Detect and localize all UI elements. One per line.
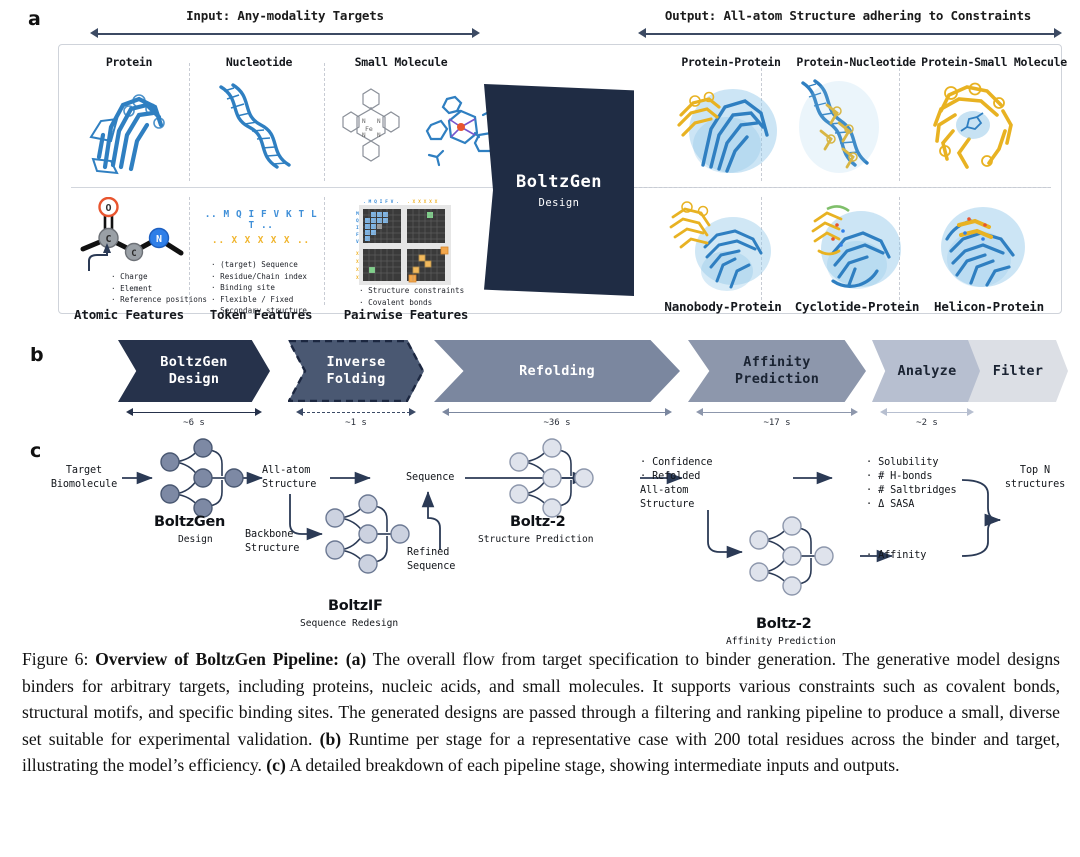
panel-c: c	[0, 432, 1080, 642]
stage-label-inverse-folding: Inverse Folding	[327, 354, 386, 388]
panel-a-letter: a	[28, 8, 41, 30]
svg-text:Q: Q	[356, 218, 359, 224]
input-header-arrow	[90, 28, 480, 39]
caption-pairwise-features: Pairwise Features	[331, 307, 481, 322]
input-title-protein: Protein	[69, 55, 189, 69]
caption-token-features: Token Features	[199, 307, 323, 322]
input-label: Target Biomolecule	[38, 464, 130, 492]
net-1-sub: Design	[178, 534, 213, 545]
panel-b-letter: b	[30, 344, 44, 366]
time-arrow-inverse-folding	[296, 408, 416, 417]
token-sequence-known: .. M Q I F V K T L T ..	[199, 209, 323, 231]
bullet-target-sequence: · (target) Sequence	[211, 259, 307, 271]
caption-c-tag: (c)	[266, 755, 286, 775]
svg-text:F: F	[356, 232, 359, 238]
svg-text:N: N	[377, 132, 381, 139]
caption-atomic-features: Atomic Features	[69, 307, 189, 322]
net-3-name: Boltz-2	[510, 514, 565, 530]
net-3-sub: Structure Prediction	[478, 534, 594, 545]
atomic-features-bullets: · Charge · Element · Reference positions	[111, 271, 207, 306]
allatom-structure-label: All-atom Structure	[262, 464, 342, 492]
time-arrow-analyze	[880, 408, 974, 417]
stage-label-filter: Filter	[993, 363, 1044, 380]
time-arrow-boltzgen-design	[126, 408, 262, 417]
stage-analyze[interactable]: Analyze	[872, 340, 982, 402]
metrics-outputs: · Solubility · # H-bonds · # Saltbridges…	[866, 456, 996, 512]
final-output-label: Top N structures	[995, 464, 1075, 492]
complex-cyclotide-protein-icon	[793, 195, 913, 295]
pairwise-matrix-icon: . M Q I F V . . X X X X X MQ IF V XX XX	[349, 197, 457, 289]
net-2-sub: Sequence Redesign	[300, 618, 398, 629]
caption-helicon-protein: Helicon-Protein	[909, 299, 1069, 314]
svg-text:X: X	[356, 267, 359, 273]
svg-text:. X X X X X: . X X X X X	[407, 199, 438, 205]
time-arrow-affinity-prediction	[696, 408, 858, 417]
caption-b-tag: (b)	[320, 729, 342, 749]
complex-protein-ligand-icon	[915, 73, 1033, 181]
time-arrow-refolding	[442, 408, 672, 417]
svg-text:N: N	[362, 118, 366, 125]
boltzgen-design-box[interactable]: BoltzGen Design	[484, 84, 634, 296]
svg-text:X: X	[356, 251, 359, 257]
complex-helicon-protein-icon	[925, 195, 1043, 295]
stage-filter[interactable]: Filter	[968, 340, 1068, 402]
svg-text:O: O	[105, 203, 111, 214]
input-title-nucleotide: Nucleotide	[199, 55, 319, 69]
svg-text:C: C	[131, 249, 136, 259]
divider-feat-2	[324, 197, 325, 305]
stage-label-affinity-prediction: Affinity Prediction	[735, 354, 819, 388]
time-label-analyze: ~2 s	[880, 418, 974, 428]
svg-text:N: N	[362, 132, 366, 139]
sequence-label: Sequence	[406, 471, 486, 485]
boltzgen-box-subtitle: Design	[539, 197, 580, 209]
stage-affinity-prediction[interactable]: Affinity Prediction	[688, 340, 866, 402]
svg-text:N: N	[377, 118, 381, 125]
bullet-charge: · Charge	[111, 271, 207, 283]
bullet-flexible-fixed: · Flexible / Fixed	[211, 294, 307, 306]
output-header-label: Output: All-atom Structure adhering to C…	[628, 8, 1068, 23]
net-1-name: BoltzGen	[154, 514, 225, 530]
divider-output-mid	[629, 187, 1051, 188]
svg-text:X: X	[356, 275, 359, 281]
panel-b: b BoltzGen Design ~6 s Inverse Folding ~…	[0, 332, 1080, 432]
svg-text:C: C	[105, 234, 111, 245]
panel-a: a Input: Any-modality Targets Output: Al…	[0, 0, 1080, 330]
svg-text:I: I	[356, 225, 359, 231]
output-header-arrow	[638, 28, 1062, 39]
caption-figure-number: Figure 6:	[22, 649, 88, 669]
bullet-binding-site: · Binding site	[211, 282, 307, 294]
stage-inverse-folding[interactable]: Inverse Folding	[288, 340, 424, 402]
caption-a-tag: (a)	[346, 649, 367, 669]
complex-nanobody-protein-icon	[659, 195, 787, 295]
caption-title: Overview of BoltzGen Pipeline:	[95, 649, 339, 669]
stage-label-boltzgen-design: BoltzGen Design	[160, 354, 227, 388]
time-label-affinity-prediction: ~17 s	[696, 418, 858, 428]
divider-output-2	[899, 63, 900, 181]
stage-boltzgen-design[interactable]: BoltzGen Design	[118, 340, 270, 402]
dna-helix-icon	[207, 75, 315, 180]
confidence-outputs: · Confidence · Refolded All-atom Structu…	[640, 456, 750, 512]
amino-acid-atoms-icon: O C C N	[71, 197, 189, 273]
bullet-element: · Element	[111, 283, 207, 295]
porphyrin-molecule-icon: N N N N Fe	[335, 81, 407, 175]
bullet-structure-constraints: · Structure constraints	[359, 285, 464, 297]
input-title-small-molecule: Small Molecule	[331, 55, 471, 69]
refined-sequence-label: Refined Sequence	[407, 546, 479, 574]
time-label-refolding: ~36 s	[442, 418, 672, 428]
complex-protein-nucleotide-icon	[781, 71, 899, 183]
stage-refolding[interactable]: Refolding	[434, 340, 680, 402]
divider-input-2	[324, 63, 325, 181]
bullet-reference-positions: · Reference positions	[111, 294, 207, 306]
svg-text:V: V	[356, 239, 359, 245]
caption-c-text: A detailed breakdown of each pipeline st…	[286, 755, 900, 775]
protein-ribbon-icon	[77, 75, 182, 180]
divider-input-1	[189, 63, 190, 181]
svg-text:Fe: Fe	[365, 125, 373, 133]
boltzgen-box-title: BoltzGen	[516, 172, 602, 192]
affinity-output: · Affinity	[866, 549, 976, 563]
pairwise-features-bullets: · Structure constraints · Covalent bonds	[359, 285, 464, 308]
svg-text:N: N	[156, 234, 162, 245]
time-label-boltzgen-design: ~6 s	[126, 418, 262, 428]
bullet-residue-chain-index: · Residue/Chain index	[211, 271, 307, 283]
input-header-label: Input: Any-modality Targets	[95, 8, 475, 23]
time-label-inverse-folding: ~1 s	[296, 418, 416, 428]
token-sequence-unknown: .. X X X X X ..	[199, 235, 323, 246]
complex-protein-protein-icon	[663, 73, 785, 181]
figure-caption: Figure 6: Overview of BoltzGen Pipeline:…	[22, 646, 1060, 779]
output-title-protein-small-molecule: Protein-Small Molecule	[904, 55, 1080, 69]
backbone-structure-label: Backbone Structure	[245, 528, 329, 556]
svg-text:X: X	[356, 259, 359, 265]
net-2-name: BoltzIF	[328, 598, 383, 614]
net-4-name: Boltz-2	[756, 616, 811, 632]
svg-text:M: M	[356, 211, 359, 217]
stage-label-refolding: Refolding	[519, 363, 595, 380]
stage-label-analyze: Analyze	[898, 363, 957, 380]
svg-text:. M Q I F V .: . M Q I F V .	[363, 199, 399, 205]
